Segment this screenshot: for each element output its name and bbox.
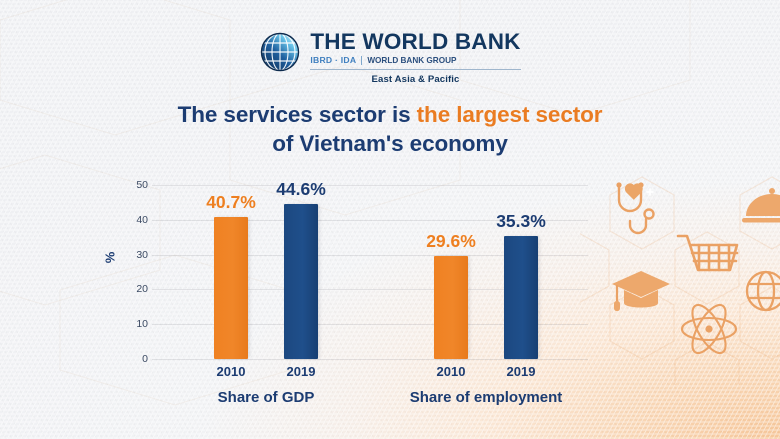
y-axis-unit-label: % xyxy=(102,252,117,264)
gridline xyxy=(152,185,588,186)
bar-share-of-employment-2019[interactable] xyxy=(504,236,538,359)
bar-value-label: 35.3% xyxy=(476,211,566,232)
bar-chart: % 01020304050 40.7%201044.6%2019Share of… xyxy=(0,0,780,439)
bar-share-of-gdp-2010[interactable] xyxy=(214,217,248,359)
y-axis-tick-label: 10 xyxy=(124,318,148,330)
x-axis-category-label: 2019 xyxy=(256,364,346,379)
y-axis-tick-label: 0 xyxy=(124,353,148,365)
y-axis-tick-label: 30 xyxy=(124,249,148,261)
infographic-canvas: THE WORLD BANK IBRD · IDA WORLD BANK GRO… xyxy=(0,0,780,439)
chart-group-label: Share of GDP xyxy=(218,389,315,406)
bar-share-of-employment-2010[interactable] xyxy=(434,256,468,359)
bar-value-label: 44.6% xyxy=(256,179,346,200)
bar-share-of-gdp-2019[interactable] xyxy=(284,204,318,359)
chart-group-label: Share of employment xyxy=(410,389,563,406)
x-axis-category-label: 2019 xyxy=(476,364,566,379)
y-axis-tick-label: 50 xyxy=(124,179,148,191)
gridline xyxy=(152,359,588,360)
y-axis-tick-label: 40 xyxy=(124,214,148,226)
bar-value-label: 29.6% xyxy=(406,231,496,252)
y-axis-tick-label: 20 xyxy=(124,283,148,295)
